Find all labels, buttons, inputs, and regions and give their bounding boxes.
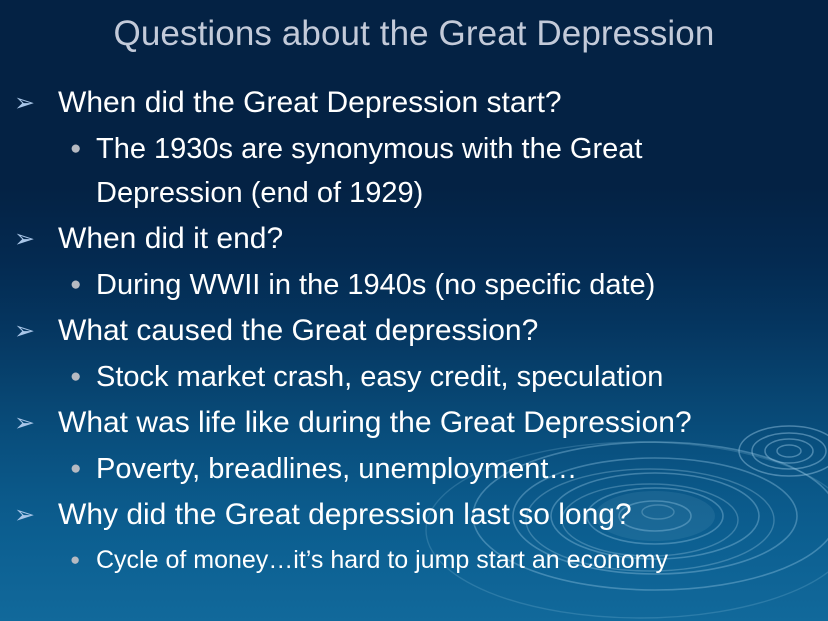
list-item: ● Cycle of money…it’s hard to jump start… [0,539,828,583]
list-item: ● During WWII in the 1940s (no specific … [0,263,828,307]
dot-bullet-icon: ● [70,539,88,581]
list-item-text-line1: The 1930s are synonymous with the Great [96,127,828,171]
list-item-text: What was life like during the Great Depr… [58,399,828,447]
dot-bullet-icon: ● [70,447,88,491]
list-item: ● Stock market crash, easy credit, specu… [0,355,828,399]
arrow-bullet-icon: ➢ [14,215,48,263]
list-item: ➢ What caused the Great depression? [0,307,828,355]
list-item-text: Stock market crash, easy credit, specula… [96,355,828,399]
list-item: ● Poverty, breadlines, unemployment… [0,447,828,491]
dot-bullet-icon: ● [70,355,88,399]
list-item-text: What caused the Great depression? [58,307,828,355]
slide-title: Questions about the Great Depression [0,12,828,56]
arrow-bullet-icon: ➢ [14,399,48,447]
list-item-text: Cycle of money…it’s hard to jump start a… [96,539,828,581]
list-item: ➢ When did it end? [0,215,828,263]
list-item: ● The 1930s are synonymous with the Grea… [0,127,828,215]
dot-bullet-icon: ● [70,263,88,307]
list-item-text-line2: Depression (end of 1929) [96,177,423,209]
list-item: ➢ Why did the Great depression last so l… [0,491,828,539]
list-item: ➢ When did the Great Depression start? [0,79,828,127]
arrow-bullet-icon: ➢ [14,491,48,539]
slide-body-list: ➢ When did the Great Depression start? ●… [0,79,828,583]
list-item-text: Why did the Great depression last so lon… [58,491,828,539]
list-item-text: When did it end? [58,215,828,263]
list-item-text: Poverty, breadlines, unemployment… [96,447,828,491]
list-item-text: When did the Great Depression start? [58,79,828,127]
dot-bullet-icon: ● [70,127,88,171]
presentation-slide: Questions about the Great Depression ➢ W… [0,0,828,621]
list-item: ➢ What was life like during the Great De… [0,399,828,447]
arrow-bullet-icon: ➢ [14,79,48,127]
list-item-text: During WWII in the 1940s (no specific da… [96,263,828,307]
arrow-bullet-icon: ➢ [14,307,48,355]
